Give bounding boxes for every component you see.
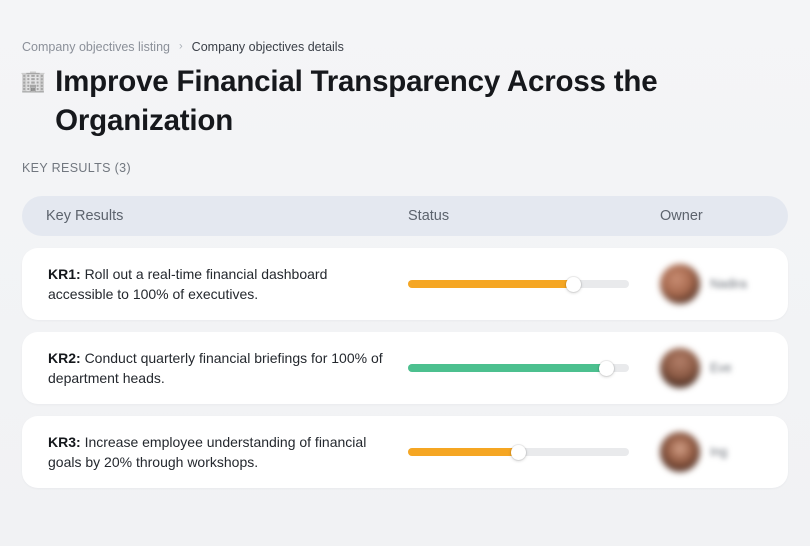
avatar bbox=[660, 264, 700, 304]
key-result-label: KR1: bbox=[48, 266, 81, 282]
breadcrumb-current-details: Company objectives details bbox=[192, 38, 344, 56]
key-results-section-label: KEY RESULTS (3) bbox=[22, 161, 131, 175]
owner-name: Eve bbox=[710, 361, 732, 375]
avatar bbox=[660, 432, 700, 472]
owner-cell: Ing bbox=[660, 432, 788, 472]
key-result-text: KR2: Conduct quarterly financial briefin… bbox=[48, 348, 394, 389]
office-buildings-icon: 🏢 bbox=[20, 62, 46, 102]
progress-slider[interactable] bbox=[408, 280, 629, 288]
owner[interactable]: Eve bbox=[660, 348, 788, 388]
status-cell bbox=[408, 364, 660, 372]
page-title-row: 🏢 Improve Financial Transparency Across … bbox=[20, 62, 660, 140]
column-header-status: Status bbox=[408, 208, 660, 224]
page-title: Improve Financial Transparency Across th… bbox=[55, 62, 660, 140]
key-results-table: Key Results Status Owner KR1: Roll out a… bbox=[22, 196, 788, 500]
key-result-cell: KR3: Increase employee understanding of … bbox=[22, 432, 408, 473]
progress-slider[interactable] bbox=[408, 448, 629, 456]
key-result-text: KR3: Increase employee understanding of … bbox=[48, 432, 394, 473]
progress-handle[interactable] bbox=[511, 445, 526, 460]
owner[interactable]: Ing bbox=[660, 432, 788, 472]
column-header-key-results: Key Results bbox=[22, 208, 408, 224]
column-header-owner: Owner bbox=[660, 208, 788, 224]
key-result-description: Conduct quarterly financial briefings fo… bbox=[48, 350, 383, 387]
progress-handle[interactable] bbox=[599, 361, 614, 376]
key-result-cell: KR1: Roll out a real-time financial dash… bbox=[22, 264, 408, 305]
key-result-label: KR2: bbox=[48, 350, 81, 366]
key-result-description: Increase employee understanding of finan… bbox=[48, 434, 366, 471]
progress-fill bbox=[408, 448, 519, 456]
breadcrumb: Company objectives listing › Company obj… bbox=[22, 38, 344, 56]
table-row[interactable]: KR2: Conduct quarterly financial briefin… bbox=[22, 332, 788, 404]
owner-cell: Nadira bbox=[660, 264, 788, 304]
owner-name: Nadira bbox=[710, 277, 747, 291]
progress-handle[interactable] bbox=[566, 277, 581, 292]
progress-fill bbox=[408, 280, 574, 288]
owner-cell: Eve bbox=[660, 348, 788, 388]
avatar bbox=[660, 348, 700, 388]
progress-fill bbox=[408, 364, 607, 372]
status-cell bbox=[408, 280, 660, 288]
key-result-text: KR1: Roll out a real-time financial dash… bbox=[48, 264, 394, 305]
chevron-right-icon: › bbox=[179, 38, 183, 56]
key-result-label: KR3: bbox=[48, 434, 81, 450]
progress-slider[interactable] bbox=[408, 364, 629, 372]
objective-details-page: Company objectives listing › Company obj… bbox=[0, 0, 810, 546]
breadcrumb-link-listing[interactable]: Company objectives listing bbox=[22, 38, 170, 56]
table-row[interactable]: KR3: Increase employee understanding of … bbox=[22, 416, 788, 488]
owner[interactable]: Nadira bbox=[660, 264, 788, 304]
key-result-description: Roll out a real-time financial dashboard… bbox=[48, 266, 327, 303]
table-header-row: Key Results Status Owner bbox=[22, 196, 788, 236]
table-row[interactable]: KR1: Roll out a real-time financial dash… bbox=[22, 248, 788, 320]
owner-name: Ing bbox=[710, 445, 727, 459]
key-result-cell: KR2: Conduct quarterly financial briefin… bbox=[22, 348, 408, 389]
status-cell bbox=[408, 448, 660, 456]
